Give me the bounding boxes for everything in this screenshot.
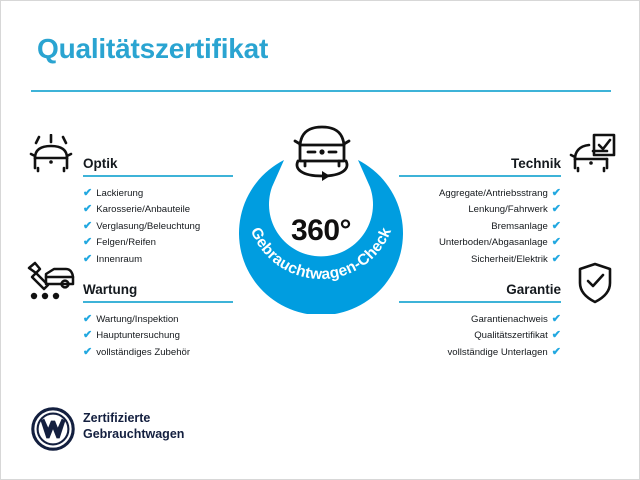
list-item: ✔vollständiges Zubehör	[83, 344, 233, 360]
list-item-label: Lackierung	[96, 188, 143, 199]
header-divider	[31, 90, 611, 92]
check-icon: ✔	[83, 201, 92, 217]
section-optik-list: ✔Lackierung ✔Karosserie/Anbauteile ✔Verg…	[83, 177, 233, 267]
check-icon: ✔	[552, 185, 561, 201]
footer-brand-text: Zertifizierte Gebrauchtwagen	[83, 410, 184, 442]
check-icon: ✔	[83, 234, 92, 250]
check-icon: ✔	[552, 251, 561, 267]
wrench-car-icon	[24, 260, 76, 307]
page-title: Qualitätszertifikat	[37, 33, 268, 65]
section-technik-title: Technik	[511, 156, 561, 171]
section-garantie: Garantie Garantienachweis✔ Qualitätszert…	[399, 273, 561, 360]
list-item: Garantienachweis✔	[399, 311, 561, 327]
badge-degrees-label: 360°	[224, 214, 418, 248]
list-item-label: vollständige Unterlagen	[448, 347, 548, 358]
badge-360-gebrauchtwagen-check: Gebrauchtwagen-Check 360°	[224, 119, 418, 314]
section-optik-title: Optik	[83, 156, 118, 171]
section-garantie-list: Garantienachweis✔ Qualitätszertifikat✔ v…	[399, 303, 561, 360]
section-wartung-divider	[83, 301, 233, 303]
car-checkbox-icon	[569, 133, 617, 180]
list-item: ✔Karosserie/Anbauteile	[83, 201, 233, 217]
check-icon: ✔	[83, 185, 92, 201]
check-icon: ✔	[552, 327, 561, 343]
list-item: ✔Hauptuntersuchung	[83, 327, 233, 343]
list-item: Sicherheit/Elektrik✔	[399, 251, 561, 267]
list-item-label: Innenraum	[96, 254, 142, 265]
list-item: Lenkung/Fahrwerk✔	[399, 201, 561, 217]
footer-line-2: Gebrauchtwagen	[83, 426, 184, 442]
check-icon: ✔	[552, 344, 561, 360]
section-technik-divider	[399, 175, 561, 177]
section-wartung-list: ✔Wartung/Inspektion ✔Hauptuntersuchung ✔…	[83, 303, 233, 360]
check-icon: ✔	[552, 218, 561, 234]
list-item-label: Wartung/Inspektion	[96, 314, 178, 325]
section-optik: Optik ✔Lackierung ✔Karosserie/Anbauteile…	[83, 147, 233, 267]
list-item-label: Bremsanlage	[491, 221, 548, 232]
section-optik-divider	[83, 175, 233, 177]
list-item-label: Lenkung/Fahrwerk	[468, 204, 547, 215]
section-garantie-header: Garantie	[399, 273, 561, 303]
list-item-label: Sicherheit/Elektrik	[471, 254, 548, 265]
list-item: ✔Innenraum	[83, 251, 233, 267]
list-item: ✔Lackierung	[83, 185, 233, 201]
list-item-label: Aggregate/Antriebsstrang	[439, 188, 548, 199]
certificate-page: Qualitätszertifikat	[0, 0, 640, 480]
section-wartung-title: Wartung	[83, 282, 137, 297]
list-item-label: vollständiges Zubehör	[96, 347, 190, 358]
section-garantie-title: Garantie	[506, 282, 561, 297]
check-icon: ✔	[83, 218, 92, 234]
car-shine-icon	[27, 134, 75, 181]
car-front-rotate-icon	[284, 119, 360, 181]
section-wartung: Wartung ✔Wartung/Inspektion ✔Hauptunters…	[83, 273, 233, 360]
check-icon: ✔	[552, 311, 561, 327]
list-item-label: Verglasung/Beleuchtung	[96, 221, 200, 232]
section-optik-header: Optik	[83, 147, 233, 177]
footer-line-1: Zertifizierte	[83, 410, 184, 426]
list-item-label: Garantienachweis	[471, 314, 548, 325]
check-icon: ✔	[552, 234, 561, 250]
list-item-label: Hauptuntersuchung	[96, 330, 180, 341]
list-item-label: Karosserie/Anbauteile	[96, 204, 190, 215]
list-item: Aggregate/Antriebsstrang✔	[399, 185, 561, 201]
check-icon: ✔	[552, 201, 561, 217]
list-item: ✔Wartung/Inspektion	[83, 311, 233, 327]
check-icon: ✔	[83, 251, 92, 267]
check-icon: ✔	[83, 327, 92, 343]
list-item-label: Unterboden/Abgasanlage	[439, 237, 548, 248]
section-technik-header: Technik	[399, 147, 561, 177]
list-item: Bremsanlage✔	[399, 218, 561, 234]
check-icon: ✔	[83, 344, 92, 360]
section-technik-list: Aggregate/Antriebsstrang✔ Lenkung/Fahrwe…	[399, 177, 561, 267]
check-icon: ✔	[83, 311, 92, 327]
section-wartung-header: Wartung	[83, 273, 233, 303]
section-technik: Technik Aggregate/Antriebsstrang✔ Lenkun…	[399, 147, 561, 267]
list-item-label: Qualitätszertifikat	[474, 330, 548, 341]
list-item: ✔Verglasung/Beleuchtung	[83, 218, 233, 234]
list-item: Qualitätszertifikat✔	[399, 327, 561, 343]
volkswagen-logo-icon	[31, 407, 75, 451]
list-item: ✔Felgen/Reifen	[83, 234, 233, 250]
list-item-label: Felgen/Reifen	[96, 237, 156, 248]
list-item: Unterboden/Abgasanlage✔	[399, 234, 561, 250]
section-garantie-divider	[399, 301, 561, 303]
shield-check-icon	[576, 261, 614, 310]
list-item: vollständige Unterlagen✔	[399, 344, 561, 360]
